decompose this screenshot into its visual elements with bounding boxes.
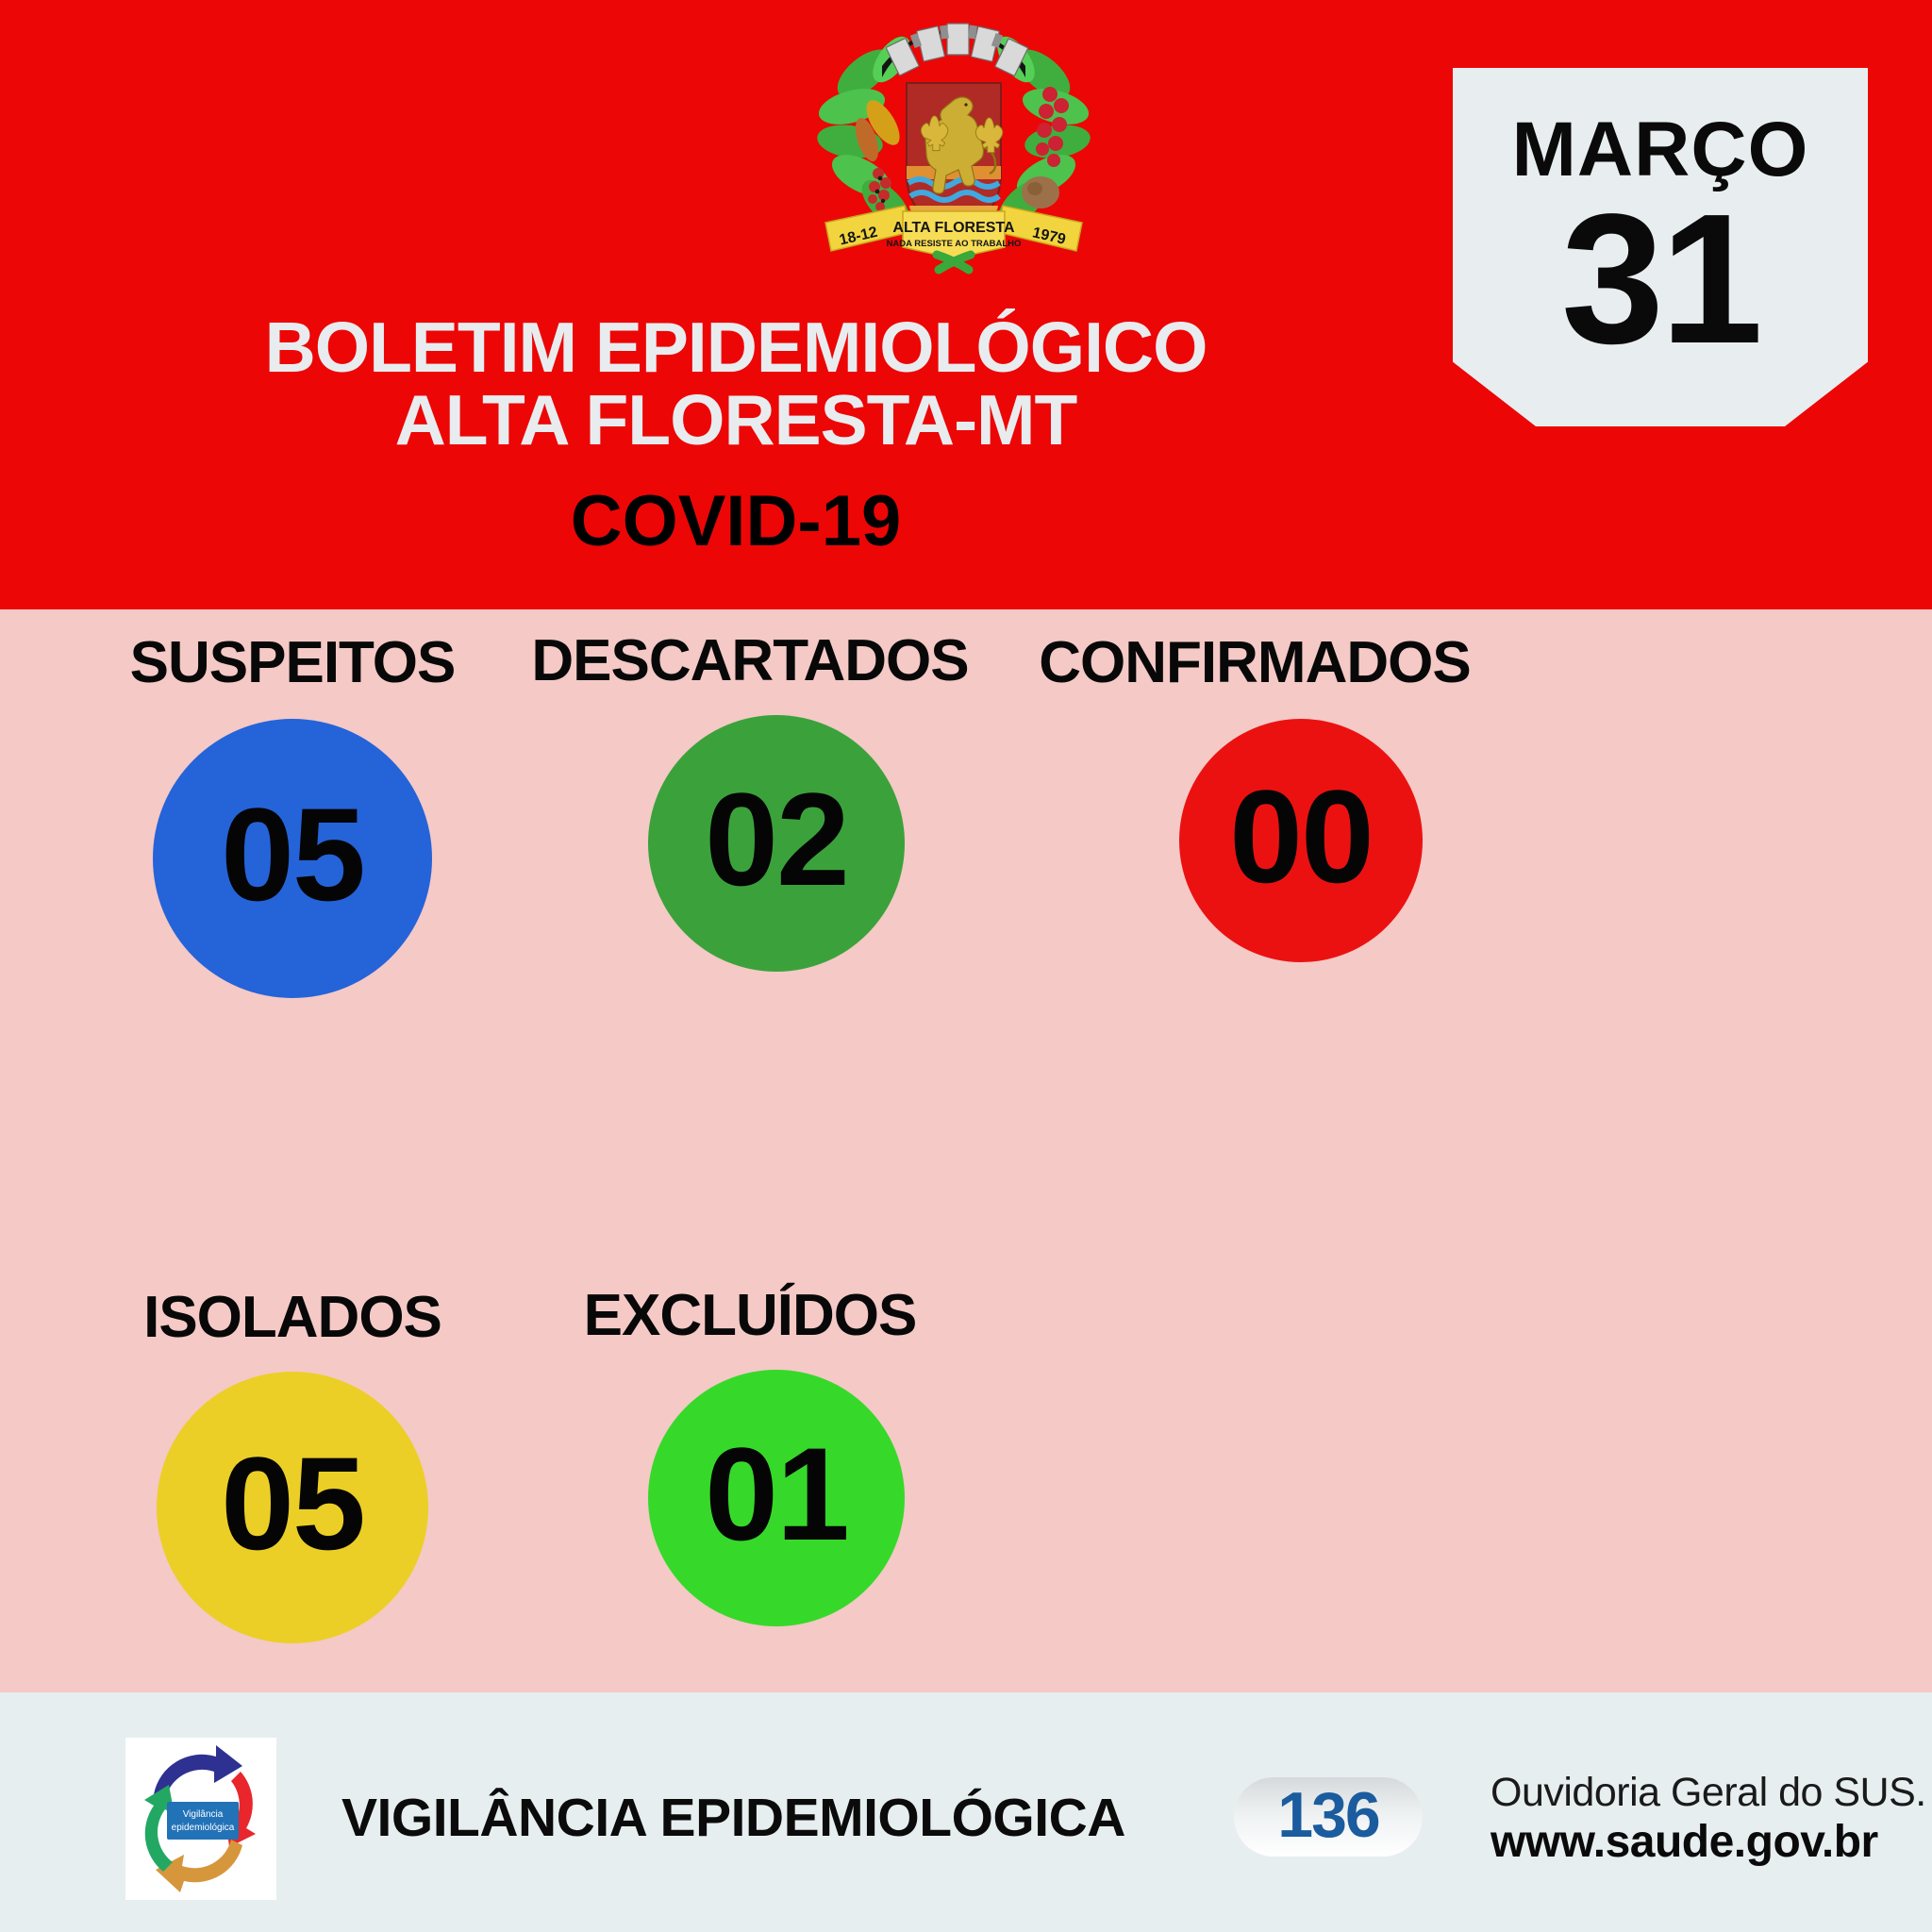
stat-value-descartados: 02 (705, 774, 848, 906)
sus-info-block: Ouvidoria Geral do SUS. www.saude.gov.br (1491, 1770, 1926, 1869)
sus-ouvidoria-label: Ouvidoria Geral do SUS. (1491, 1770, 1926, 1816)
stat-label-isolados: ISOLADOS (57, 1289, 528, 1347)
stat-confirmados: CONFIRMADOS 00 (991, 634, 1519, 962)
bulletin-title-line2: ALTA FLORESTA-MT (0, 384, 1472, 457)
stat-label-suspeitos: SUSPEITOS (57, 634, 528, 692)
title-block: BOLETIM EPIDEMIOLÓGICO ALTA FLORESTA-MT … (0, 311, 1472, 558)
disease-label: COVID-19 (0, 486, 1472, 558)
stat-value-confirmados: 00 (1229, 771, 1373, 903)
svg-text:epidemiológica: epidemiológica (172, 1823, 235, 1833)
svg-text:Vigilância: Vigilância (183, 1809, 224, 1820)
stat-label-confirmados: CONFIRMADOS (991, 634, 1519, 692)
stat-isolados: ISOLADOS 05 (57, 1289, 528, 1643)
header-banner: 18-12 1979 ALTA FLORESTA NADA RESISTE AO… (0, 0, 1932, 609)
stat-circle-confirmados: 00 (1179, 719, 1423, 962)
coat-of-arms-icon: 18-12 1979 ALTA FLORESTA NADA RESISTE AO… (812, 8, 1095, 283)
vigilancia-cycle-icon: Vigilância epidemiológica (125, 1738, 276, 1900)
stat-descartados: DESCARTADOS 02 (514, 632, 986, 972)
stat-circle-descartados: 02 (648, 715, 905, 972)
stat-circle-excluidos: 01 (648, 1370, 905, 1626)
stat-value-suspeitos: 05 (221, 789, 364, 921)
stat-suspeitos: SUSPEITOS 05 (57, 634, 528, 998)
stat-value-excluidos: 01 (705, 1428, 848, 1560)
stat-value-isolados: 05 (221, 1438, 364, 1570)
stat-excluidos: EXCLUÍDOS 01 (514, 1287, 986, 1626)
sus-phone-badge: 136 (1234, 1777, 1423, 1857)
stat-circle-isolados: 05 (157, 1372, 428, 1643)
footer-bar: Vigilância epidemiológica VIGILÂNCIA EPI… (0, 1692, 1932, 1932)
svg-text:NADA RESISTE AO TRABALHO: NADA RESISTE AO TRABALHO (887, 239, 1022, 249)
bulletin-title-line1: BOLETIM EPIDEMIOLÓGICO (0, 311, 1472, 384)
stats-panel: SUSPEITOS 05 DESCARTADOS 02 CONFIRMADOS … (0, 609, 1932, 1692)
svg-text:ALTA FLORESTA: ALTA FLORESTA (892, 220, 1015, 236)
sus-phone-number: 136 (1277, 1783, 1378, 1847)
department-label: VIGILÂNCIA EPIDEMIOLÓGICA (341, 1787, 1125, 1849)
stat-label-excluidos: EXCLUÍDOS (514, 1287, 986, 1345)
stat-circle-suspeitos: 05 (153, 719, 432, 998)
sus-website-url[interactable]: www.saude.gov.br (1491, 1816, 1926, 1868)
date-badge: MARÇO 31 (1453, 68, 1868, 426)
stat-label-descartados: DESCARTADOS (514, 632, 986, 691)
date-day: 31 (1453, 194, 1868, 364)
